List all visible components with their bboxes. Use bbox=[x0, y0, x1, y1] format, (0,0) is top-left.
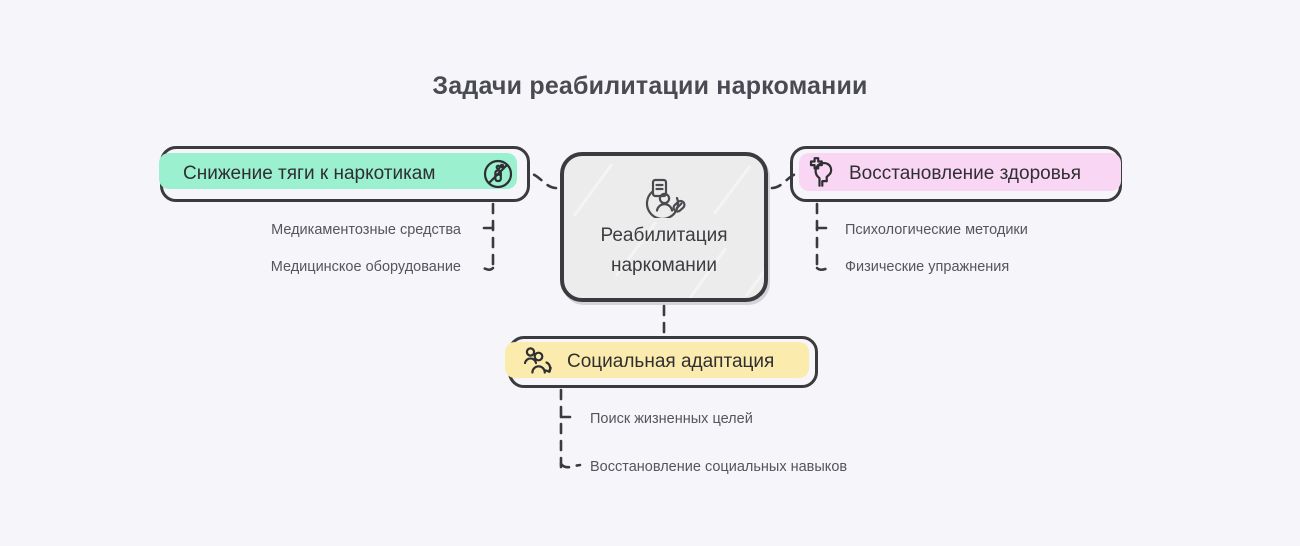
page-title: Задачи реабилитации наркомании bbox=[0, 72, 1300, 101]
leaf-label-equipment: Медицинское оборудование bbox=[271, 259, 461, 275]
no-drugs-icon bbox=[481, 157, 515, 191]
leaf-label-life-goals: Поиск жизненных целей bbox=[590, 411, 753, 427]
mindmap-canvas: Задачи реабилитации наркомании bbox=[0, 0, 1300, 546]
leaf-label-physical-exercise: Физические упражнения bbox=[845, 259, 1009, 275]
people-group-arrow-icon bbox=[521, 345, 557, 379]
branch-node-health[interactable]: Восстановление здоровья bbox=[790, 146, 1122, 202]
central-node[interactable]: Реабилитация наркомании bbox=[560, 152, 768, 302]
connector-craving-leaf-2 bbox=[479, 267, 493, 270]
leaf-label-social-skills: Восстановление социальных навыков bbox=[590, 459, 847, 475]
connector-health-leaf-2 bbox=[817, 267, 833, 270]
central-node-label-line1: Реабилитация bbox=[600, 224, 727, 248]
person-document-pill-icon bbox=[640, 176, 688, 218]
connector-central-craving bbox=[532, 174, 556, 188]
central-node-label-line2: наркомании bbox=[611, 254, 717, 278]
branch-craving-label: Снижение тяги к наркотикам bbox=[183, 163, 435, 185]
branch-node-social[interactable]: Социальная адаптация bbox=[508, 336, 818, 388]
branch-social-label: Социальная адаптация bbox=[567, 351, 774, 373]
leaf-label-medication: Медикаментозные средства bbox=[271, 222, 461, 238]
branch-health-label: Восстановление здоровья bbox=[849, 163, 1081, 185]
head-medical-cross-icon bbox=[805, 157, 839, 191]
connector-social-leaf-2 bbox=[561, 464, 580, 467]
leaf-label-psychological-methods: Психологические методики bbox=[845, 222, 1028, 238]
branch-node-craving[interactable]: Снижение тяги к наркотикам bbox=[160, 146, 530, 202]
